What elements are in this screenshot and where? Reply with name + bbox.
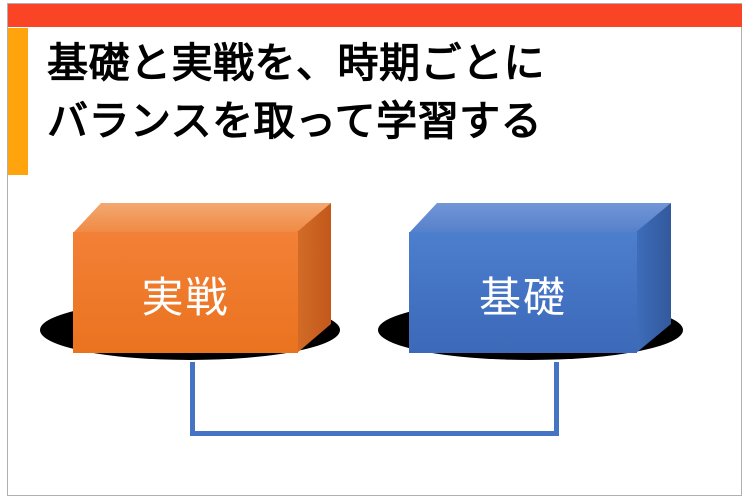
- box-basics-side-face: [636, 203, 671, 353]
- left-accent-bar: [8, 28, 28, 175]
- box-practice-top-face: [73, 203, 331, 233]
- box-basics-label: 基礎: [409, 264, 637, 325]
- connector-bracket: [190, 362, 559, 436]
- box-practice-side-face: [297, 203, 331, 353]
- slide-title: 基礎と実戦を、時期ごとに バランスを取って学習する: [47, 34, 687, 150]
- box-practice-label: 実戦: [73, 264, 298, 325]
- slide-canvas: 基礎と実戦を、時期ごとに バランスを取って学習する 実戦: [0, 0, 750, 500]
- box-basics-top-face: [409, 203, 671, 233]
- header-accent-bar: [8, 4, 742, 27]
